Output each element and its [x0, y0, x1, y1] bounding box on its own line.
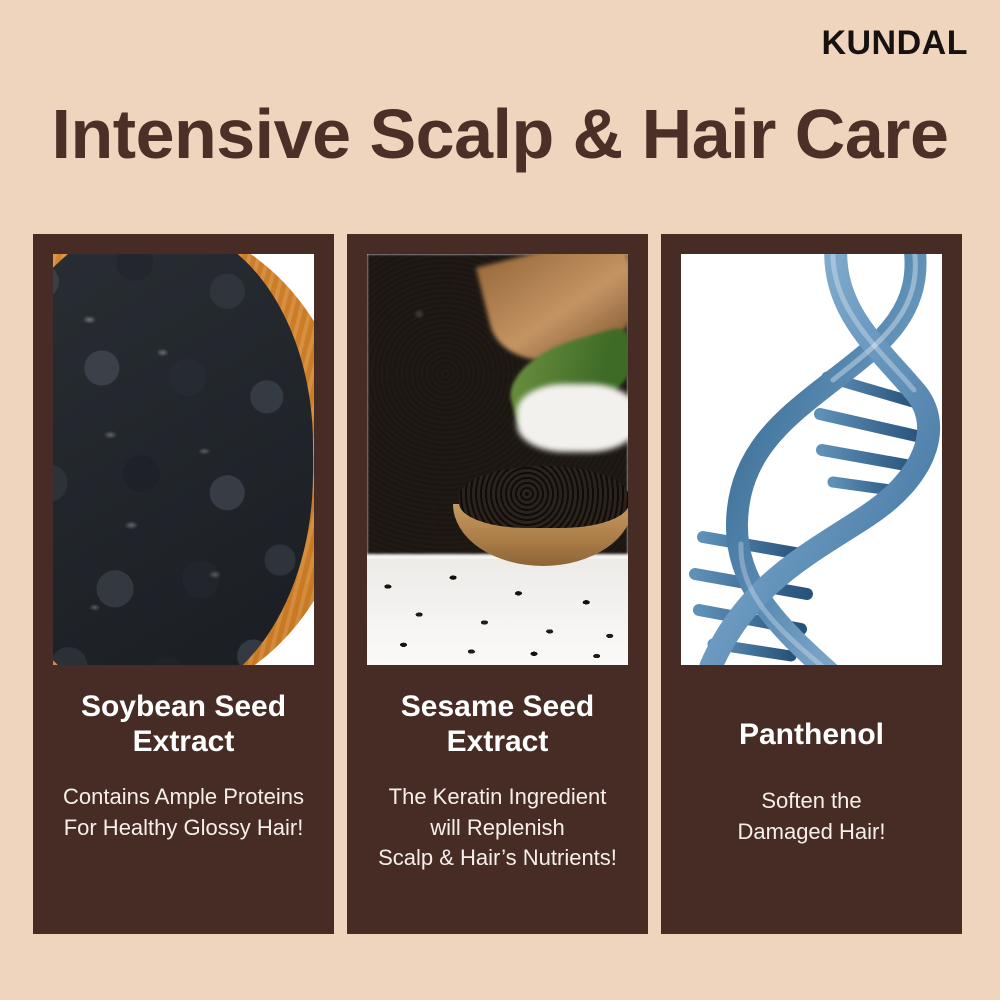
ingredient-card-soybean[interactable]: Soybean Seed Extract Contains Ample Prot… [33, 234, 334, 934]
ingredient-title: Panthenol [739, 717, 884, 752]
card-text-block: Soybean Seed Extract Contains Ample Prot… [53, 665, 314, 934]
brand-logo: KUNDAL [821, 26, 968, 60]
dna-helix-icon [681, 254, 942, 665]
card-text-block: Panthenol Soften the Damaged Hair! [681, 665, 942, 934]
black-sesame-seeds-with-spoon-photo [367, 254, 628, 665]
card-text-block: Sesame Seed Extract The Keratin Ingredie… [367, 665, 628, 934]
ingredient-card-list: Soybean Seed Extract Contains Ample Prot… [33, 234, 962, 934]
page-title: Intensive Scalp & Hair Care [0, 98, 1000, 172]
ingredient-card-panthenol[interactable]: Panthenol Soften the Damaged Hair! [661, 234, 962, 934]
ingredient-description: The Keratin Ingredient will Replenish Sc… [378, 782, 617, 874]
ingredient-description: Soften the Damaged Hair! [738, 786, 886, 848]
ingredient-description: Contains Ample Proteins For Healthy Glos… [63, 782, 304, 844]
ingredient-title: Sesame Seed Extract [401, 689, 594, 760]
ingredient-card-sesame[interactable]: Sesame Seed Extract The Keratin Ingredie… [347, 234, 648, 934]
black-soybeans-in-wooden-bowl-photo [53, 254, 314, 665]
dna-double-helix-photo [681, 254, 942, 665]
ingredient-title: Soybean Seed Extract [81, 689, 286, 760]
